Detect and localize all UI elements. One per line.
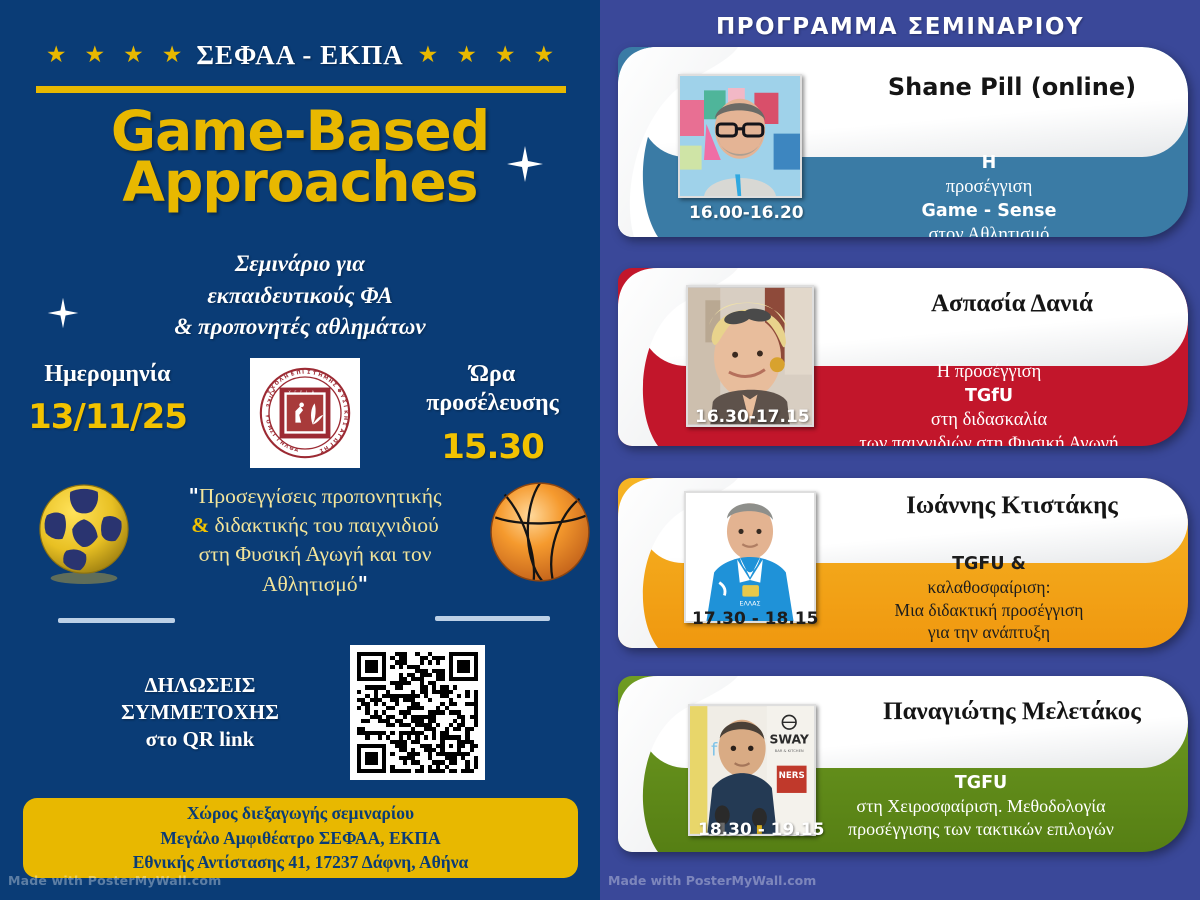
talk-line-2: των παιχνιδιών στη Φυσική Αγωγή xyxy=(804,432,1174,446)
ioannis-ktistakis-photo: ΕΛΛΑΣ xyxy=(686,493,814,621)
subtitle-line-3: & προπονητές αθλημάτων xyxy=(0,311,600,343)
registration-line-1: ΔΗΛΩΣΕΙΣ xyxy=(95,672,305,699)
time-label-line-1: Ώρα xyxy=(385,360,600,389)
talk-line-3: για την ανάπτυξη xyxy=(804,621,1174,644)
quote-line-3: στη Φυσική Αγωγή και τον xyxy=(199,542,432,566)
sefaa-seal-icon: Σ Χ Ο Λ Η Ε Π Ι Σ Τ Η Μ Η Σ Φ Υ Σ xyxy=(257,365,353,461)
svg-text:Υ: Υ xyxy=(289,390,291,394)
svg-text:Α: Α xyxy=(294,447,299,454)
panagiotis-meletakos-photo: SWAY BAR & KITCHEN NERS f xyxy=(690,706,814,834)
registration-label: ΔΗΛΩΣΕΙΣ ΣΥΜΜΕΤΟΧΗΣ στο QR link xyxy=(95,672,305,753)
session-talk: TGFU στη Χειροσφαίριση. Μεθοδολογία προσ… xyxy=(788,771,1174,842)
watermark-right: Made with PosterMyWall.com xyxy=(608,873,816,888)
divider-right xyxy=(435,616,550,621)
venue-banner: Χώρος διεξαγωγής σεμιναρίου Μεγάλο Αμφιθ… xyxy=(23,798,578,878)
svg-text:Σ: Σ xyxy=(340,399,347,405)
subtitle-line-2: εκπαιδευτικούς ΦΑ xyxy=(0,280,600,312)
talk-line-1: TGFU στη Χειροσφαίριση. Μεθοδολογία xyxy=(788,771,1174,818)
svg-text:NERS: NERS xyxy=(779,771,805,781)
qr-code[interactable] xyxy=(350,645,485,780)
svg-text:Ε: Ε xyxy=(264,403,271,408)
talk-line-2: Μια διδακτική προσέγγιση xyxy=(804,599,1174,622)
speaker-photo xyxy=(678,74,802,198)
svg-text:Γ: Γ xyxy=(294,390,296,394)
header-stars-row: ★ ★ ★ ★ ΣΕΦΑΑ - ΕΚΠΑ ★ ★ ★ ★ xyxy=(0,40,600,71)
svg-text:Υ: Υ xyxy=(264,413,270,418)
time-block: Ώρα προσέλευσης 15.30 xyxy=(385,360,600,467)
talk-line-1: Η προσέγγιση TGfU στη διδασκαλία xyxy=(804,360,1174,432)
handball-icon xyxy=(35,482,133,586)
date-value: 13/11/25 xyxy=(0,397,215,437)
speaker-photo: SWAY BAR & KITCHEN NERS f xyxy=(688,704,816,836)
session-card-body: Shane Pill (online) Η προσέγγιση Game - … xyxy=(618,47,1188,237)
quote-close-mark: " xyxy=(358,572,368,596)
gold-divider xyxy=(36,86,566,93)
svg-text:Σ: Σ xyxy=(318,447,324,454)
quote-line-4: Αθλητισμό xyxy=(262,572,358,596)
seminar-subtitle: Σεμινάριο για εκπαιδευτικούς ΦΑ & προπον… xyxy=(0,248,600,343)
sparkle-icon xyxy=(505,144,545,184)
venue-line-3: Εθνικής Αντίστασης 41, 17237 Δάφνη, Αθήν… xyxy=(133,850,469,875)
session-time: 17.30 - 18.15 xyxy=(692,609,818,629)
talk-line-4: τακτικών δεξιοτήτων xyxy=(804,644,1174,648)
session-card-body: Παναγιώτης Μελετάκος TGFU στη Χειροσφαίρ… xyxy=(618,676,1188,852)
watermark-left: Made with PosterMyWall.com xyxy=(8,873,221,888)
svg-text:Ι: Ι xyxy=(306,390,307,394)
qr-code-matrix xyxy=(357,652,478,773)
session-card[interactable]: Ιωάννης Κτιστάκης TGFU & καλαθοσφαίριση:… xyxy=(618,478,1188,648)
svg-text:Σ: Σ xyxy=(307,370,311,376)
quote-line-2: διδακτικής του παιχνιδιού xyxy=(215,513,439,537)
talk-line-2: προσέγγισης των τακτικών επιλογών xyxy=(788,818,1174,841)
poster-root: ★ ★ ★ ★ ΣΕΦΑΑ - ΕΚΠΑ ★ ★ ★ ★ Game-Based … xyxy=(0,0,1200,900)
star-icon: ★ xyxy=(533,44,554,67)
session-time: 18.30 - 19.15 xyxy=(698,820,824,840)
speaker-name: Παναγιώτης Μελετάκος xyxy=(848,698,1176,726)
university-logo: Σ Χ Ο Λ Η Ε Π Ι Σ Τ Η Μ Η Σ Φ Υ Σ xyxy=(250,358,360,468)
stars-left-group: ★ ★ ★ ★ xyxy=(46,44,183,67)
talk-line-2: στον Αθλητισμό xyxy=(804,223,1174,237)
time-label: Ώρα προσέλευσης xyxy=(385,360,600,419)
star-icon: ★ xyxy=(418,44,439,67)
svg-text:Ι: Ι xyxy=(302,370,304,376)
star-icon: ★ xyxy=(162,44,183,67)
talk-line-1: Η προσέγγιση Game - Sense xyxy=(804,151,1174,223)
speaker-name: Shane Pill (online) xyxy=(848,73,1176,101)
organization-name: ΣΕΦΑΑ - ΕΚΠΑ xyxy=(196,40,403,71)
quote-line-1: Προσεγγίσεις προπονητικής xyxy=(199,484,442,508)
svg-text:SWAY: SWAY xyxy=(769,731,809,746)
svg-text:ΕΛΛΑΣ: ΕΛΛΑΣ xyxy=(739,600,760,608)
aspasia-dania-photo xyxy=(688,287,812,425)
venue-line-1: Χώρος διεξαγωγής σεμιναρίου xyxy=(187,801,414,826)
session-talk: Η προσέγγιση Game - Sense στον Αθλητισμό xyxy=(804,151,1174,237)
star-icon: ★ xyxy=(46,44,67,67)
session-card-body: Ιωάννης Κτιστάκης TGFU & καλαθοσφαίριση:… xyxy=(618,478,1188,648)
registration-line-3: στο QR link xyxy=(95,726,305,753)
svg-text:Σ: Σ xyxy=(341,421,348,426)
seminar-quote: "Προσεγγίσεις προπονητικής & διδακτικής … xyxy=(150,482,480,599)
venue-line-2: Μεγάλο Αμφιθέατρο ΣΕΦΑΑ, ΕΚΠΑ xyxy=(160,826,440,851)
registration-line-2: ΣΥΜΜΕΤΟΧΗΣ xyxy=(95,699,305,726)
session-time: 16.00-16.20 xyxy=(689,203,804,223)
star-icon: ★ xyxy=(123,44,144,67)
quote-open-mark: " xyxy=(188,484,198,508)
svg-text:Η: Η xyxy=(342,416,348,421)
star-icon: ★ xyxy=(495,44,516,67)
svg-text:Ε: Ε xyxy=(290,371,296,378)
svg-text:f: f xyxy=(711,741,718,761)
divider-left xyxy=(58,618,175,623)
session-card[interactable]: Ασπασία Δανιά Η προσέγγιση TGfU στη διδα… xyxy=(618,268,1188,446)
star-icon: ★ xyxy=(456,44,477,67)
svg-text:Κ: Κ xyxy=(342,410,348,415)
session-card[interactable]: Shane Pill (online) Η προσέγγιση Game - … xyxy=(618,47,1188,237)
svg-text:Η: Η xyxy=(283,373,290,380)
session-card[interactable]: Παναγιώτης Μελετάκος TGFU στη Χειροσφαίρ… xyxy=(618,676,1188,852)
speaker-name: Ιωάννης Κτιστάκης xyxy=(848,492,1176,520)
session-talk: Η προσέγγιση TGfU στη διδασκαλία των παι… xyxy=(804,360,1174,446)
svg-text:Ε: Ε xyxy=(300,390,302,394)
session-talk: TGFU & καλαθοσφαίριση: Μια διδακτική προ… xyxy=(804,552,1174,648)
talk-line-1: TGFU & καλαθοσφαίριση: xyxy=(804,552,1174,599)
svg-text:BAR & KITCHEN: BAR & KITCHEN xyxy=(775,749,804,753)
date-label: Ημερομηνία xyxy=(0,360,215,389)
star-icon: ★ xyxy=(85,44,106,67)
stars-right-group: ★ ★ ★ ★ xyxy=(418,44,555,67)
subtitle-line-1: Σεμινάριο για xyxy=(0,248,600,280)
speaker-name: Ασπασία Δανιά xyxy=(848,290,1176,318)
time-value: 15.30 xyxy=(385,427,600,467)
quote-ampersand: & xyxy=(191,513,209,537)
svg-text:Τ: Τ xyxy=(312,370,317,377)
svg-text:Π: Π xyxy=(296,370,301,377)
left-panel: ★ ★ ★ ★ ΣΕΦΑΑ - ΕΚΠΑ ★ ★ ★ ★ Game-Based … xyxy=(0,0,600,900)
program-title: ΠΡΟΓΡΑΜΜΑ ΣΕΜΙΝΑΡΙΟΥ xyxy=(600,14,1200,40)
speaker-photo xyxy=(686,285,814,427)
time-label-line-2: προσέλευσης xyxy=(385,389,600,418)
session-time: 16.30-17.15 xyxy=(695,407,810,427)
date-block: Ημερομηνία 13/11/25 xyxy=(0,360,215,437)
session-card-body: Ασπασία Δανιά Η προσέγγιση TGfU στη διδα… xyxy=(618,268,1188,446)
svg-text:Ι: Ι xyxy=(342,405,348,408)
right-panel: ΠΡΟΓΡΑΜΜΑ ΣΕΜΙΝΑΡΙΟΥ Shane Pill (online)… xyxy=(600,0,1200,900)
shane-pill-photo xyxy=(680,76,800,196)
basketball-icon xyxy=(488,480,592,584)
speaker-photo: ΕΛΛΑΣ xyxy=(684,491,816,623)
